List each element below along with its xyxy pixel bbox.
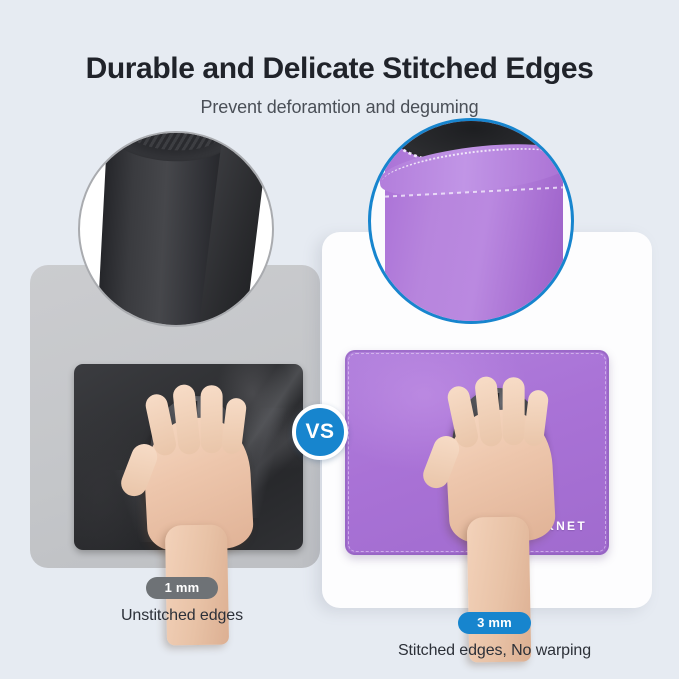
header: Durable and Delicate Stitched Edges Prev… xyxy=(0,0,679,118)
finger xyxy=(503,377,525,445)
stitched-label-group: 3 mm Stitched edges, No warping xyxy=(381,612,608,660)
rolled-purple-mousepad xyxy=(385,118,563,324)
page-title: Durable and Delicate Stitched Edges xyxy=(0,52,679,86)
thickness-badge-3mm: 3 mm xyxy=(458,612,531,634)
vs-badge: VS xyxy=(292,404,348,460)
rolled-black-mousepad xyxy=(96,131,237,327)
stitched-caption: Stitched edges, No warping xyxy=(381,642,608,660)
unstitched-edge-closeup-inset xyxy=(78,131,274,327)
roll-inner-fabric xyxy=(126,131,222,153)
unstitched-label-group: 1 mm Unstitched edges xyxy=(96,577,268,625)
stitched-edge-closeup-inset xyxy=(368,118,574,324)
roll-opening xyxy=(108,131,235,164)
thickness-badge-1mm: 1 mm xyxy=(146,577,219,599)
page-subtitle: Prevent deforamtion and deguming xyxy=(0,97,679,118)
unstitched-caption: Unstitched edges xyxy=(96,607,268,625)
finger xyxy=(201,385,223,453)
